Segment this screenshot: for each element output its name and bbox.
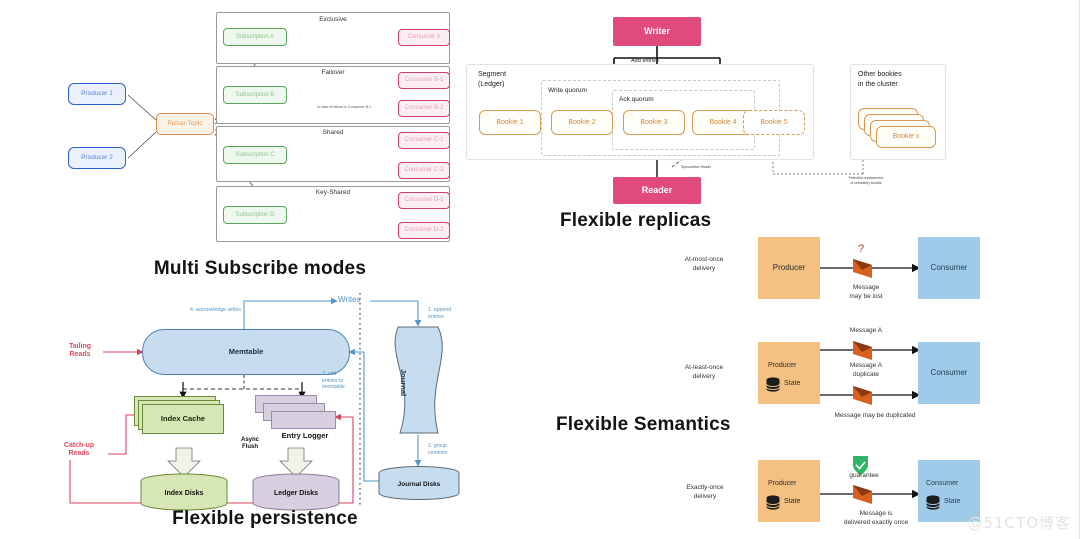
bookie-1-label: Bookie 1 xyxy=(496,119,523,126)
producer-label-3: Producer xyxy=(768,480,796,487)
write-quorum-label: Write quorum xyxy=(548,87,587,94)
delivered-exactly-once-label: Message is delivered exactly once xyxy=(794,510,958,528)
at-least-once-line2: delivery xyxy=(656,373,752,382)
flexible-replicas-diagram: Writer Add entri xyxy=(466,4,966,209)
consumer-b-2-label: Consumer B-2 xyxy=(405,105,444,111)
segment-label-line2: (Ledger) xyxy=(478,80,506,90)
consumer-c-2-node[interactable]: Consumer C-2 xyxy=(398,162,450,179)
multi-subscribe-title: Multi Subscribe modes xyxy=(60,258,460,280)
consumer-d-2-node[interactable]: Consumer D-2 xyxy=(398,222,450,239)
consumer-b-1-label: Consumer B-1 xyxy=(405,77,444,83)
speculative-reads-label: Speculative Reads xyxy=(660,165,732,170)
question-marker-1: ? xyxy=(848,242,874,257)
message-a-dup-line2: duplicate xyxy=(824,371,908,380)
subscription-d-label: Subscription D xyxy=(235,212,274,218)
step4-label: 4. acknowledge writes xyxy=(190,307,241,314)
exactly-once-line2: delivery xyxy=(658,493,752,502)
bookie-2-label: Bookie 2 xyxy=(568,119,595,126)
catchup-reads-line1: Catch-up xyxy=(48,442,110,450)
other-bookies-label: Other bookies in the cluster xyxy=(858,70,902,90)
step2-label: 2. group commits xyxy=(428,443,447,456)
at-most-once-line2: delivery xyxy=(658,265,750,274)
step3-label: 3. add entries to memtable xyxy=(322,371,345,391)
step2-line1: 2. group xyxy=(428,443,447,450)
segment-label-line1: Segment xyxy=(478,70,506,80)
subscription-a-label: Subscription A xyxy=(236,34,274,40)
database-icon-3 xyxy=(765,494,781,512)
producer-state-label-2: State xyxy=(784,380,800,387)
message-a-duplicate-label: Message A duplicate xyxy=(824,362,908,380)
flexible-semantics-diagram: At-most-once delivery Producer Consumer … xyxy=(650,232,1070,532)
tailing-reads-line1: Tailing xyxy=(54,343,106,351)
producer-2-node[interactable]: Producer 2 xyxy=(68,147,126,169)
consumer-label-1: Consumer xyxy=(931,264,968,272)
index-disks-node[interactable]: Index Disks xyxy=(140,473,228,511)
consumer-b-1-node[interactable]: Consumer B-1 xyxy=(398,72,450,89)
ledger-disks-label: Ledger Disks xyxy=(252,490,340,497)
subscription-a-node[interactable]: Subscription A xyxy=(223,28,287,46)
bookie-5-node[interactable]: Bookie 5 xyxy=(743,110,805,135)
producer-2-label: Producer 2 xyxy=(81,155,113,162)
exactly-once-label: Exactly-once delivery xyxy=(658,484,752,502)
producer-box-at-most-once[interactable]: Producer xyxy=(758,237,820,299)
async-flush-line2: Flush xyxy=(226,444,274,451)
message-a-dup-line1: Message A xyxy=(824,362,908,371)
delivered-line2: delivered exactly once xyxy=(794,519,958,528)
producer-1-node[interactable]: Producer 1 xyxy=(68,83,126,105)
at-most-once-line1: At-most-once xyxy=(658,256,750,265)
memtable-label: Memtable xyxy=(229,348,264,356)
journal-label: Journal xyxy=(399,369,408,396)
replacement-note-line2: of unhealthy bookie xyxy=(814,181,918,186)
consumer-c-1-label: Consumer C-1 xyxy=(404,137,443,143)
ledger-disks-node[interactable]: Ledger Disks xyxy=(252,473,340,511)
bookie-2-node[interactable]: Bookie 2 xyxy=(551,110,613,135)
producer-label-2: Producer xyxy=(768,362,796,369)
consumer-a-node[interactable]: Consumer A xyxy=(398,29,450,46)
consumer-box-at-least-once[interactable]: Consumer xyxy=(918,342,980,404)
producer-1-label: Producer 1 xyxy=(81,91,113,98)
subscription-b-node[interactable]: Subscription B xyxy=(223,86,287,104)
step2-line2: commits xyxy=(428,450,447,457)
consumer-label-3: Consumer xyxy=(926,480,958,487)
consumer-c-1-node[interactable]: Consumer C-1 xyxy=(398,132,450,149)
failover-note: In case of failure in Consumer B-1 xyxy=(300,105,388,109)
multi-subscribe-diagram: Producer 1 Producer 2 Pulsar Topic Exclu… xyxy=(60,0,460,290)
journal-disks-label: Journal Disks xyxy=(378,481,460,488)
consumer-label-2: Consumer xyxy=(931,369,968,377)
delivered-line1: Message is xyxy=(794,510,958,519)
entry-logger-stack-1 xyxy=(271,411,336,429)
message-duplicated-label: Message may be duplicated xyxy=(790,412,960,421)
consumer-state-label-3: State xyxy=(944,498,960,505)
bookie-3-node[interactable]: Bookie 3 xyxy=(623,110,685,135)
consumer-d-1-node[interactable]: Consumer D-1 xyxy=(398,192,450,209)
ack-quorum-label: Ack quorum xyxy=(619,96,654,103)
bookie-4-label: Bookie 4 xyxy=(709,119,736,126)
step1-line1: 1. append xyxy=(428,307,451,314)
pulsar-topic-node[interactable]: Pulsar Topic xyxy=(156,113,214,135)
async-flush-line1: Async xyxy=(226,437,274,444)
message-a-label: Message A xyxy=(826,327,906,336)
flexible-persistence-title: Flexible persistence xyxy=(60,508,470,530)
exactly-once-line1: Exactly-once xyxy=(658,484,752,493)
other-bookie-label: Bookie x xyxy=(893,133,920,140)
catchup-reads-line2: Reads xyxy=(48,450,110,458)
subscription-d-node[interactable]: Subscription D xyxy=(223,206,287,224)
consumer-b-2-node[interactable]: Consumer B-2 xyxy=(398,100,450,117)
at-least-once-line1: At-least-once xyxy=(656,364,752,373)
at-most-once-label: At-most-once delivery xyxy=(658,256,750,274)
screenshot-canvas: Producer 1 Producer 2 Pulsar Topic Exclu… xyxy=(0,0,1080,539)
catchup-reads-label: Catch-up Reads xyxy=(48,442,110,459)
subscription-c-node[interactable]: Subscription C xyxy=(223,146,287,164)
producer-box-at-least-once[interactable] xyxy=(758,342,820,404)
message-lost-line2: may be lost xyxy=(822,293,910,302)
async-flush-label: Async Flush xyxy=(226,437,274,451)
tailing-reads-label: Tailing Reads xyxy=(54,343,106,360)
message-lost-line1: Message xyxy=(822,284,910,293)
segment-label: Segment (Ledger) xyxy=(478,70,506,90)
reader-label: Reader xyxy=(642,186,673,195)
consumer-d-1-label: Consumer D-1 xyxy=(404,197,443,203)
subscription-b-label: Subscription B xyxy=(236,92,275,98)
step1-line2: entries xyxy=(428,314,451,321)
other-bookies-line1: Other bookies xyxy=(858,70,902,80)
index-cache-label: Index Cache xyxy=(161,415,205,423)
index-disks-label: Index Disks xyxy=(140,490,228,497)
replacement-note: Potential replacement of unhealthy booki… xyxy=(814,176,918,185)
mode-title-exclusive: Exclusive xyxy=(236,16,430,23)
watermark: @51CTO博客 xyxy=(967,512,1071,533)
bookie-3-label: Bookie 3 xyxy=(640,119,667,126)
index-cache-node[interactable]: Index Cache xyxy=(142,404,224,434)
at-least-once-label: At-least-once delivery xyxy=(656,364,752,382)
consumer-d-2-label: Consumer D-2 xyxy=(404,227,443,233)
other-bookies-line2: in the cluster xyxy=(858,80,902,90)
consumer-c-2-label: Consumer C-2 xyxy=(404,167,443,173)
guarantee-label: guarantee xyxy=(828,472,900,481)
journal-disks-node[interactable]: Journal Disks xyxy=(378,465,460,501)
memtable-node[interactable]: Memtable xyxy=(142,329,350,375)
reader-node[interactable]: Reader xyxy=(613,177,701,204)
consumer-a-label: Consumer A xyxy=(407,34,440,40)
flexible-persistence-diagram: Memtable Journal Index Cache Entry Logge… xyxy=(40,285,500,510)
writes-label: Writes xyxy=(338,295,361,305)
flexible-replicas-title: Flexible replicas xyxy=(560,210,711,232)
consumer-box-at-most-once[interactable]: Consumer xyxy=(918,237,980,299)
subscription-c-label: Subscription C xyxy=(235,152,274,158)
tailing-reads-line2: Reads xyxy=(54,351,106,359)
producer-state-label-3: State xyxy=(784,498,800,505)
producer-label-1: Producer xyxy=(773,264,805,272)
database-icon-2 xyxy=(765,376,781,394)
message-lost-label: Message may be lost xyxy=(822,284,910,302)
bookie-1-node[interactable]: Bookie 1 xyxy=(479,110,541,135)
step1-label: 1. append entries xyxy=(428,307,451,320)
pulsar-topic-label: Pulsar Topic xyxy=(167,121,202,128)
step3-line3: memtable xyxy=(322,384,345,391)
bookie-5-label: Bookie 5 xyxy=(760,119,787,126)
journal-node[interactable]: Journal xyxy=(398,363,442,393)
other-bookie-node[interactable]: Bookie x xyxy=(876,126,936,148)
flexible-semantics-title: Flexible Semantics xyxy=(556,414,731,436)
